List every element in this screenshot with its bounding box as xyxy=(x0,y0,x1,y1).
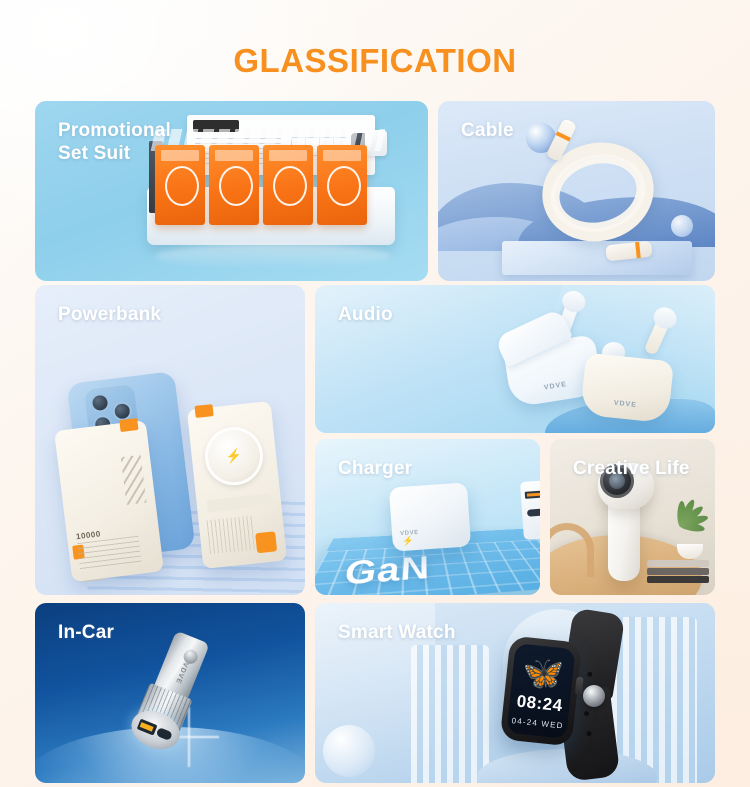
category-label-creative-life: Creative Life xyxy=(573,457,690,480)
category-label-in-car: In-Car xyxy=(58,621,114,644)
watch-face-date: 04-24 WED xyxy=(507,716,568,731)
category-card-charger[interactable]: GaN VDVE⚡ Charger xyxy=(315,439,540,595)
category-label-smart-watch: Smart Watch xyxy=(338,621,456,644)
category-card-powerbank[interactable]: 10000 Powerbank xyxy=(35,285,305,595)
powerbank-artwork: 10000 xyxy=(35,285,305,595)
category-label-promotional-set-suit: Promotional Set Suit xyxy=(58,119,171,165)
butterfly-icon: 🦋 xyxy=(521,655,565,692)
category-label-powerbank: Powerbank xyxy=(58,303,161,326)
category-card-promotional-set-suit[interactable]: Promotional Set Suit xyxy=(35,101,428,281)
page-title: GLASSIFICATION xyxy=(0,0,750,77)
category-card-cable[interactable]: Cable xyxy=(438,101,715,281)
powerbank-capacity-text: 10000 xyxy=(76,529,102,541)
category-card-in-car[interactable]: VDVE In-Car xyxy=(35,603,305,783)
category-card-audio[interactable]: VDVE VDVE Audio xyxy=(315,285,715,433)
category-label-audio: Audio xyxy=(338,303,393,326)
category-card-creative-life[interactable]: Creative Life xyxy=(550,439,715,595)
watch-face-time: 08:24 xyxy=(509,691,571,717)
category-label-cable: Cable xyxy=(461,119,514,142)
category-label-charger: Charger xyxy=(338,457,412,480)
charger-platform-text: GaN xyxy=(344,551,435,594)
category-card-smart-watch[interactable]: 🦋 08:24 04-24 WED Smart Watch xyxy=(315,603,715,783)
